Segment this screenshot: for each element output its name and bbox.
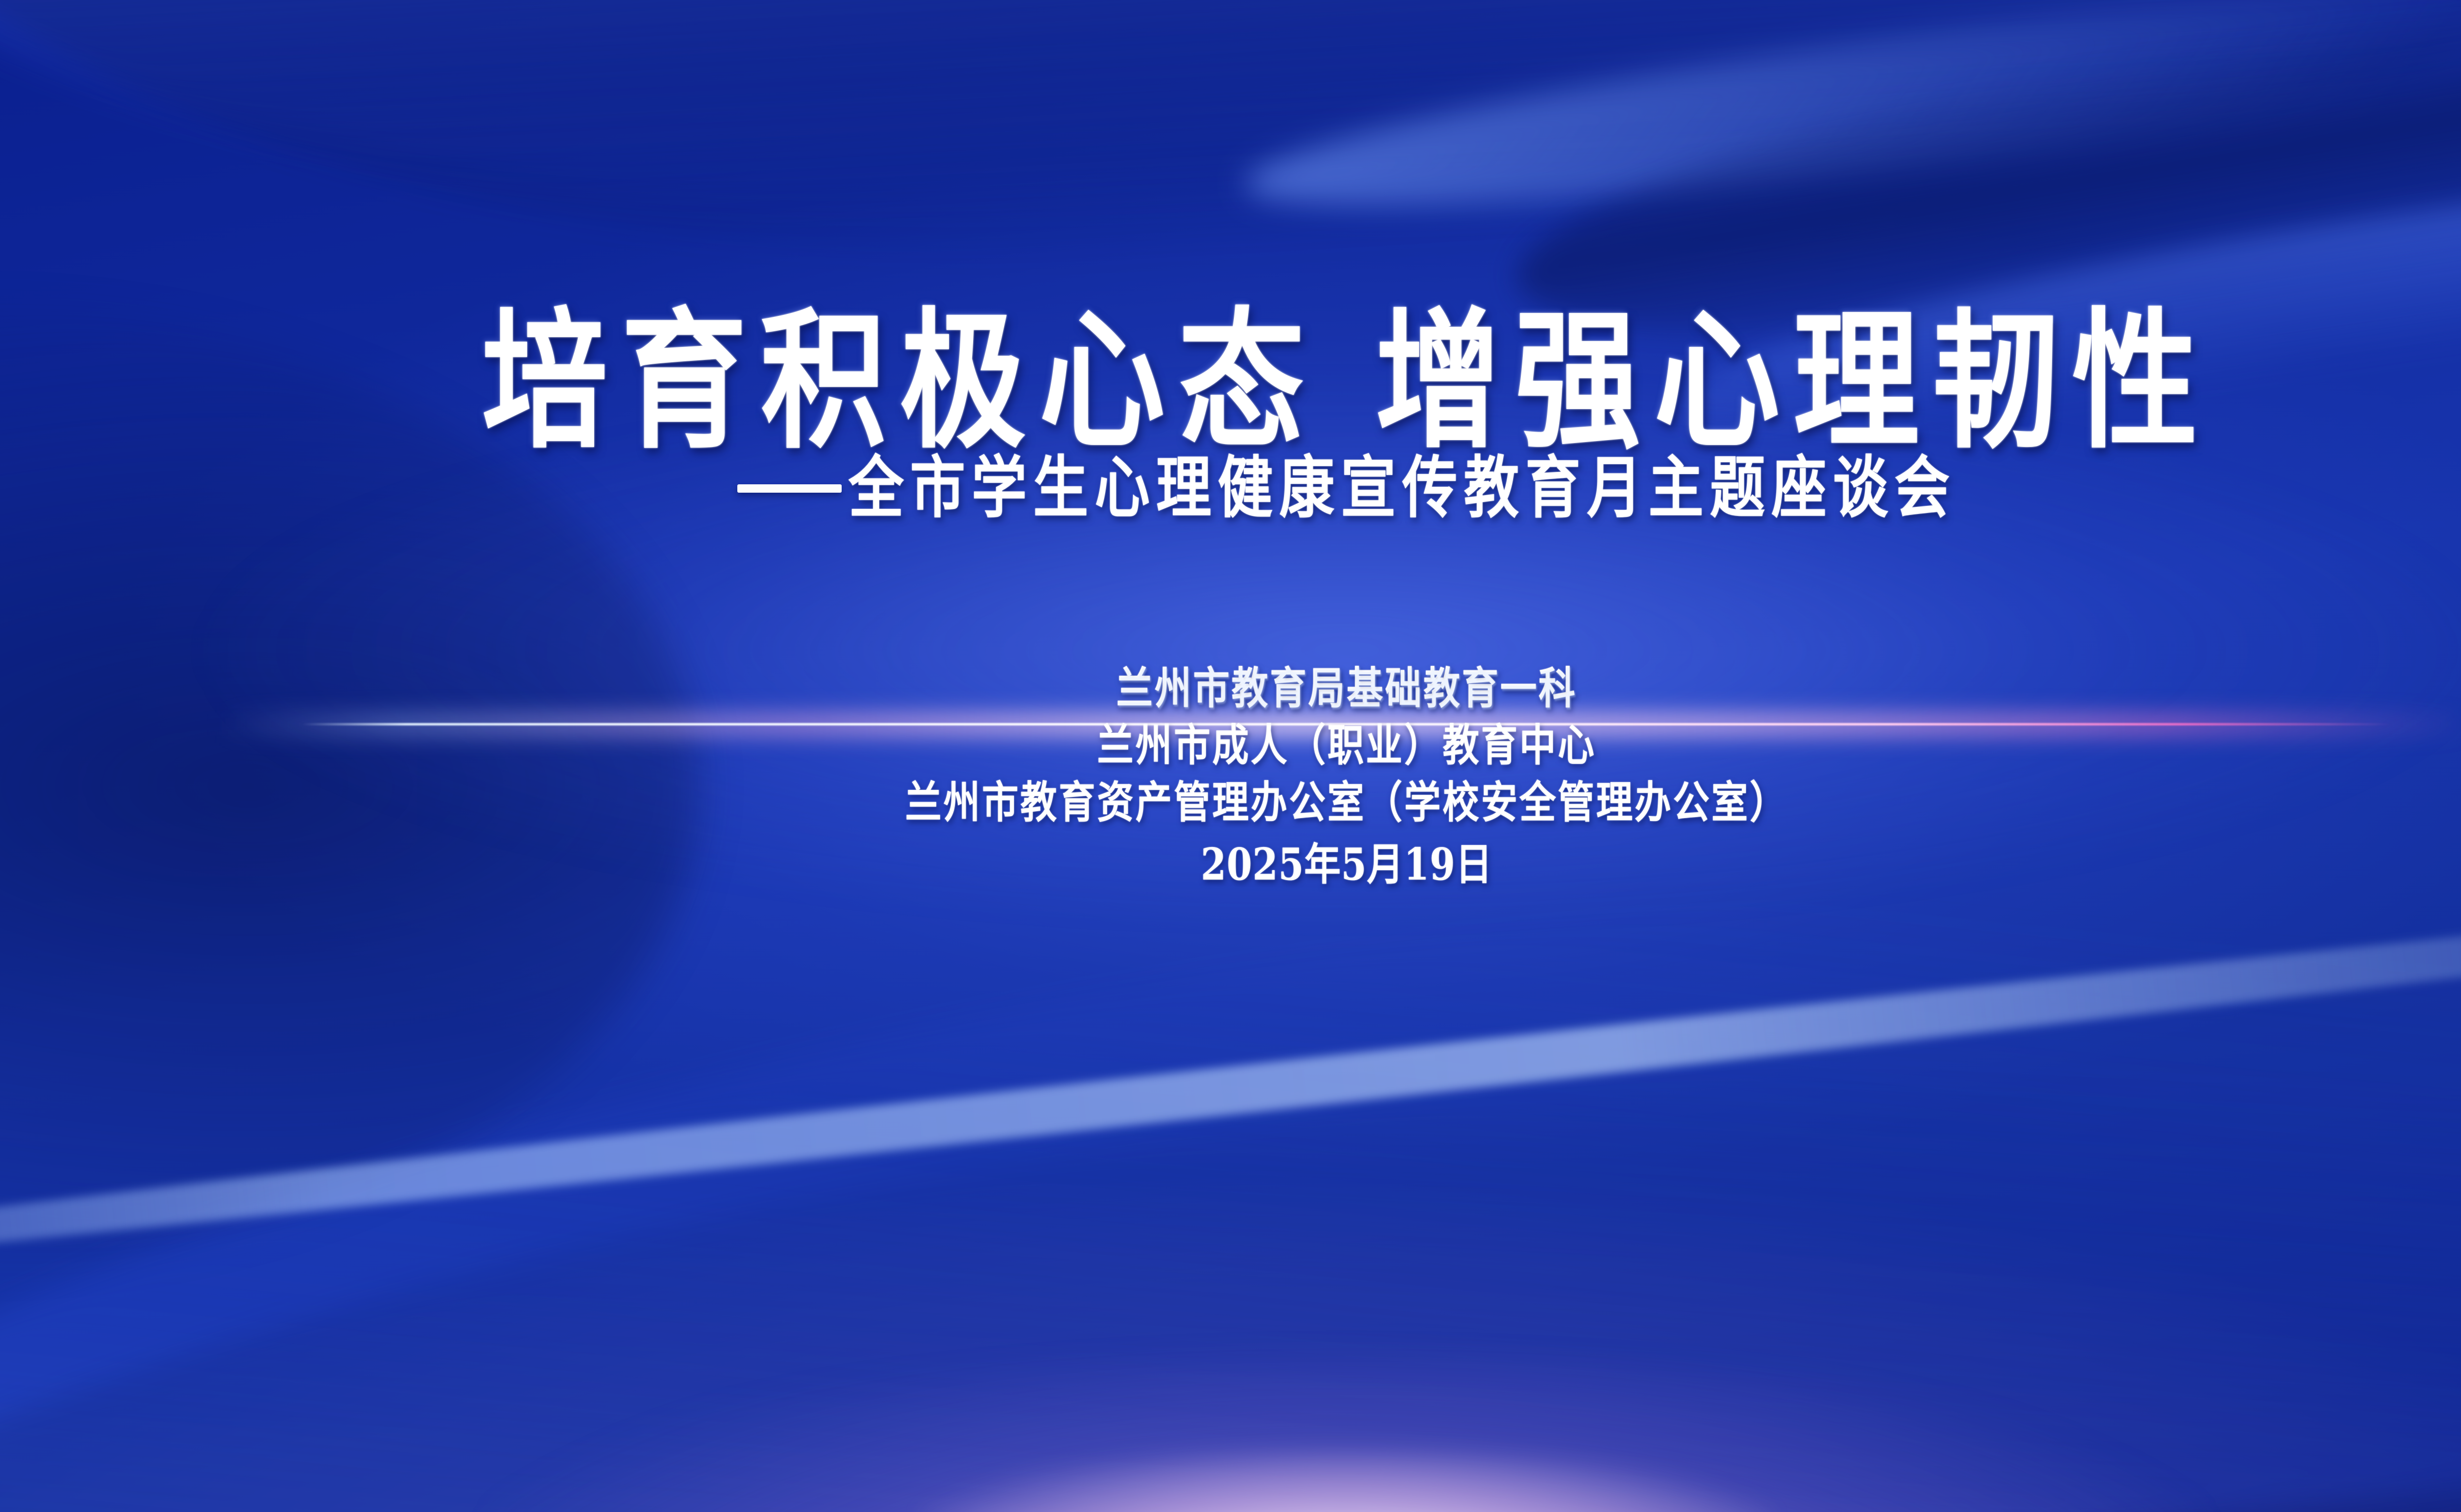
organizer-line-1: 兰州市教育局基础教育一科 兰州市教育局基础教育一科 xyxy=(1116,667,1577,711)
event-date: 2025年5月19日 xyxy=(1201,843,1492,887)
em-dash-rule xyxy=(737,484,842,493)
slide-backdrop: 培育积极心态 增强心理韧性 全市学生心理健康宣传教育月主题座谈会 兰州市教育局基… xyxy=(0,0,2461,1512)
subtitle-row: 全市学生心理健康宣传教育月主题座谈会 xyxy=(737,461,1956,516)
organizer-line-1-label: 兰州市教育局基础教育一科 xyxy=(1116,663,1577,714)
organizer-line-3: 兰州市教育资产管理办公室（学校安全管理办公室） xyxy=(905,781,1788,825)
subtitle: 全市学生心理健康宣传教育月主题座谈会 xyxy=(849,455,1956,522)
slide-content: 培育积极心态 增强心理韧性 全市学生心理健康宣传教育月主题座谈会 兰州市教育局基… xyxy=(0,0,2461,1512)
organizer-block: 兰州市教育局基础教育一科 兰州市教育局基础教育一科 兰州市成人（职业）教育中心 … xyxy=(905,670,1788,883)
organizer-line-2: 兰州市成人（职业）教育中心 xyxy=(1097,724,1596,768)
page-title: 培育积极心态 增强心理韧性 xyxy=(482,306,2211,456)
